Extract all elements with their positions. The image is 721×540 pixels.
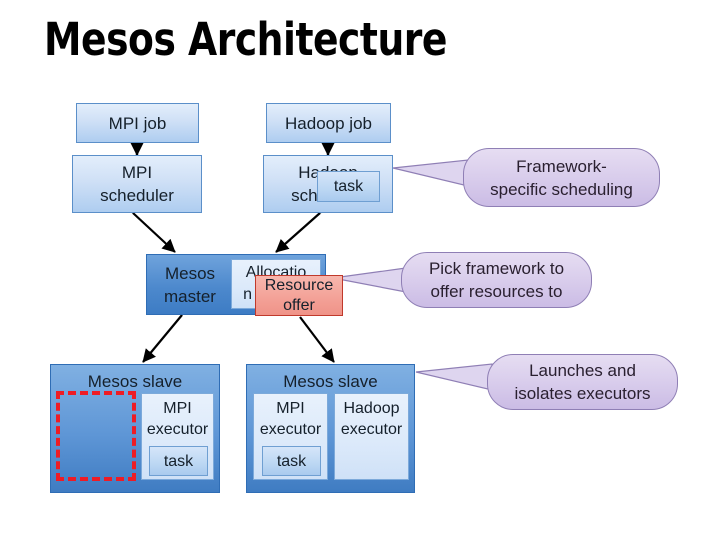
callout-1-line1: Framework- — [464, 155, 659, 178]
callout-2-line2: offer resources to — [402, 280, 591, 303]
resource-offer-box[interactable]: Resource offer — [255, 275, 343, 316]
resource-offer-label-line2: offer — [256, 296, 342, 316]
resource-offer-label-line1: Resource — [256, 276, 342, 296]
callout-pick-framework: Pick framework to offer resources to — [401, 252, 592, 308]
callout-1-line2: specific scheduling — [464, 178, 659, 201]
callout-3-line2: isolates executors — [488, 382, 677, 405]
callout-3-line1: Launches and — [488, 359, 677, 382]
callout-2-line1: Pick framework to — [402, 257, 591, 280]
slide-canvas: Mesos Architecture MPI job Hadoop job MP… — [0, 0, 721, 540]
callout-framework-scheduling: Framework- specific scheduling — [463, 148, 660, 207]
callout-tails — [0, 0, 721, 540]
callout-launches-isolates: Launches and isolates executors — [487, 354, 678, 410]
